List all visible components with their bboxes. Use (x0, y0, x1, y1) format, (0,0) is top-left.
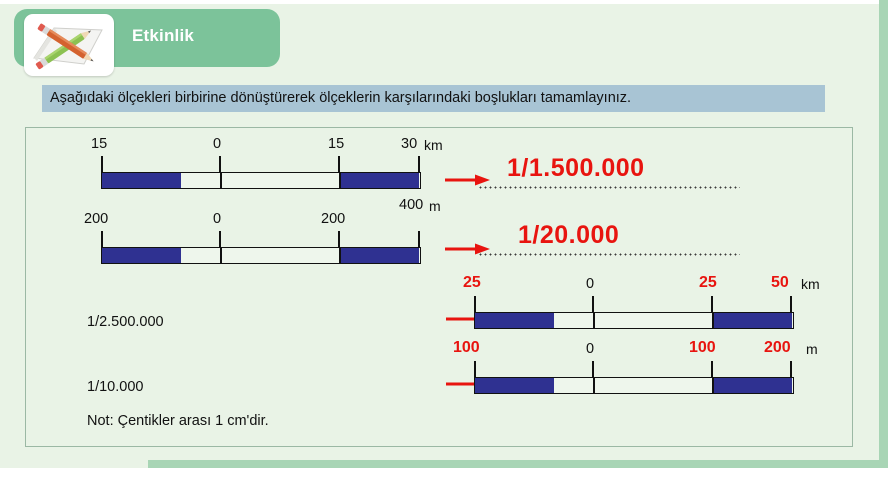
frame-right-accent (879, 0, 888, 468)
scale-divider (593, 313, 595, 328)
answer-scale-label-end[interactable]: 50 (771, 274, 789, 292)
scale-label-end: 400 (399, 197, 423, 213)
answer-dotted-line (478, 253, 740, 256)
instruction-text: Aşağıdaki ölçekleri birbirine dönüştürer… (42, 85, 825, 112)
answer-dotted-line (478, 186, 740, 189)
scale-bar (101, 172, 421, 189)
frame-top-edge (0, 0, 888, 4)
scale-divider (220, 173, 222, 188)
scale-label-zero: 0 (586, 276, 594, 292)
scale-unit-label: km (801, 276, 820, 292)
scale-divider (712, 313, 714, 328)
scale-label-mid-right: 200 (321, 211, 345, 227)
activity-badge-label: Etkinlik (132, 26, 194, 46)
scale-divider (593, 378, 595, 393)
scale-unit-label: km (424, 137, 443, 153)
scale-bar (101, 247, 421, 264)
pencils-notepad-icon (24, 14, 114, 76)
scale-label-mid-right: 15 (328, 136, 344, 152)
given-scale-ratio: 1/2.500.000 (87, 314, 164, 330)
scale-segment-filled (475, 378, 554, 393)
scale-label-left: 200 (84, 211, 108, 227)
scale-segment-filled (712, 313, 792, 328)
footnote-text: Not: Çentikler arası 1 cm'dir. (87, 413, 269, 429)
scale-label-zero: 0 (213, 136, 221, 152)
scale-divider (220, 248, 222, 263)
scale-unit-label: m (429, 198, 441, 214)
scale-label-left: 15 (91, 136, 107, 152)
activity-badge: Etkinlik (14, 9, 280, 67)
answer-scale-label-left[interactable]: 25 (463, 274, 481, 292)
scale-bar (474, 312, 794, 329)
scale-divider (712, 378, 714, 393)
frame-bottom-accent (148, 460, 888, 468)
scale-bar (474, 377, 794, 394)
conversion-arrow-icon (445, 173, 491, 187)
scale-segment-filled (339, 173, 419, 188)
scale-label-zero: 0 (213, 211, 221, 227)
answer-scale-label-left[interactable]: 100 (453, 339, 480, 357)
answer-scale-ratio[interactable]: 1/1.500.000 (507, 154, 645, 183)
scale-segment-filled (102, 248, 181, 263)
given-scale-ratio: 1/10.000 (87, 379, 143, 395)
scale-segment-filled (475, 313, 554, 328)
scale-segment-filled (712, 378, 792, 393)
frame-bottom-edge (0, 468, 888, 477)
answer-scale-label-mid-right[interactable]: 100 (689, 339, 716, 357)
scale-segment-filled (102, 173, 181, 188)
scale-unit-label: m (806, 341, 818, 357)
answer-scale-ratio[interactable]: 1/20.000 (518, 221, 619, 250)
answer-scale-label-mid-right[interactable]: 25 (699, 274, 717, 292)
scale-label-zero: 0 (586, 341, 594, 357)
scale-divider (339, 173, 341, 188)
exercise-panel: 15 0 15 30 km 1/1.500.000 (25, 127, 853, 447)
scale-label-end: 30 (401, 136, 417, 152)
worksheet-page: Etkinlik Aşağıdaki ölçekleri birbirine d… (0, 0, 888, 477)
scale-divider (339, 248, 341, 263)
answer-scale-label-end[interactable]: 200 (764, 339, 791, 357)
scale-segment-filled (339, 248, 419, 263)
